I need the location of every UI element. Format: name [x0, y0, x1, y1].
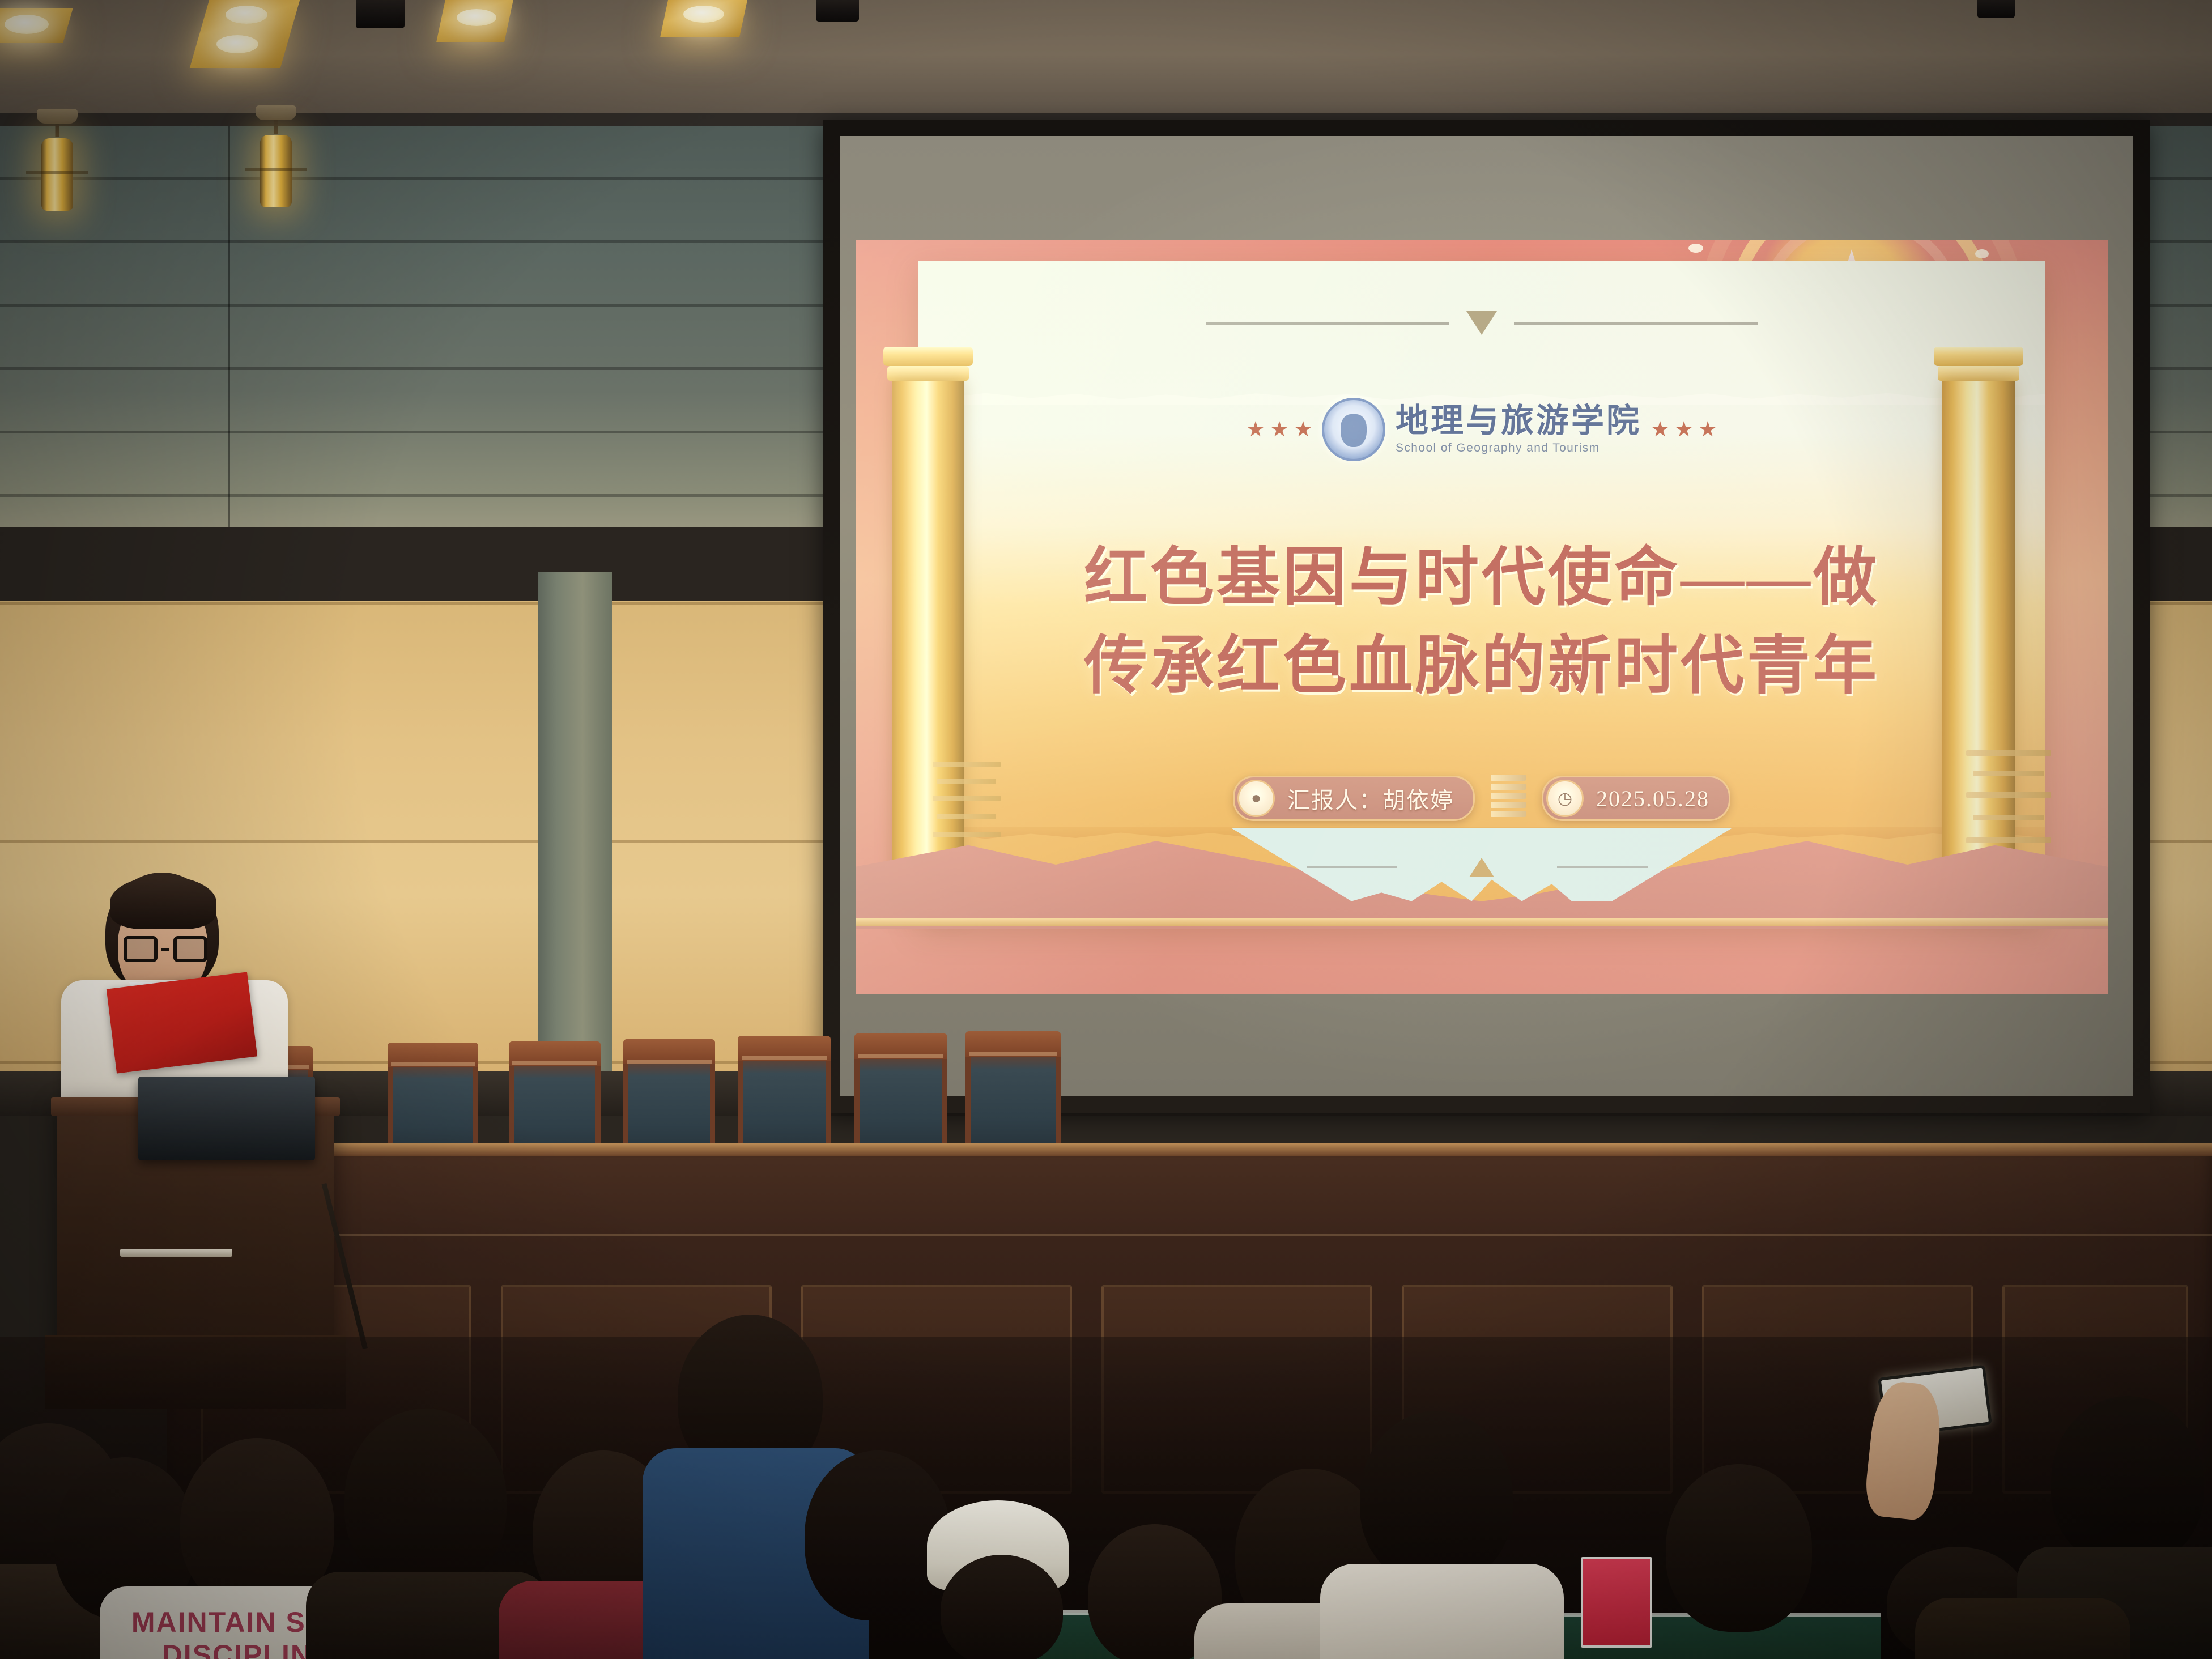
presenter-label: 汇报人：胡依婷 [1287, 782, 1454, 815]
pendant-lamp-2 [245, 109, 307, 216]
deco-line-right [1514, 322, 1758, 325]
speaker-glasses-icon [124, 936, 207, 962]
star-icon [1675, 421, 1692, 438]
school-name-en: School of Geography and Tourism [1396, 441, 1600, 455]
star-icon [1247, 421, 1264, 438]
ceiling [0, 0, 2212, 122]
audience-shoulders [1915, 1598, 2130, 1659]
red-folder [107, 972, 257, 1073]
ceiling-spot-3 [1977, 0, 2015, 18]
audience-head [344, 1409, 507, 1590]
audience-head [1666, 1464, 1812, 1632]
wall-seam-1 [228, 113, 230, 561]
gold-rail [856, 918, 2108, 926]
ceiling-light-2-bulb-top [226, 6, 267, 24]
marker-triangle-icon [1469, 858, 1494, 877]
sky-line-left [1307, 866, 1397, 868]
school-logo-row: 地理与旅游学院 School of Geography and Tourism [856, 395, 2108, 463]
ceiling-light-3-bulb [457, 9, 496, 26]
school-name-block: 地理与旅游学院 School of Geography and Tourism [1396, 405, 1641, 455]
stage-chair-6 [854, 1033, 947, 1162]
pendant-lamp-1 [26, 112, 88, 220]
school-name-cn: 地理与旅游学院 [1396, 405, 1641, 437]
star-icon [1699, 421, 1716, 438]
person-icon: ● [1237, 780, 1275, 817]
school-emblem-icon [1322, 398, 1385, 461]
skyline-decoration [856, 822, 2108, 929]
audience-head [180, 1438, 334, 1610]
ceiling-spot-2 [816, 0, 859, 22]
audience-head [1360, 1411, 1513, 1584]
audience-head [2051, 1396, 2204, 1566]
slide-meta-row: ● 汇报人：胡依婷 ◷ 2025.05.28 [856, 773, 2108, 824]
presenter-badge: ● 汇报人：胡依婷 [1233, 776, 1475, 821]
desk-grain-line-1 [167, 1234, 2212, 1236]
stage-chair-7 [965, 1031, 1061, 1160]
date-label: 2025.05.28 [1596, 785, 1709, 812]
slide-title-line-2: 传承红色血脉的新时代青年 [856, 623, 2108, 709]
star-icon [1271, 421, 1288, 438]
star-icon [1652, 421, 1669, 438]
ceiling-light-4-bulb [683, 6, 724, 23]
podium-nameplate [120, 1249, 232, 1257]
logo-stars-right [1652, 421, 1716, 438]
audience-shoulders [1320, 1564, 1564, 1659]
scroll-top-decoration [856, 310, 2108, 335]
sky-line-right [1557, 866, 1648, 868]
red-sign [1581, 1557, 1652, 1648]
speaker-fringe [110, 876, 216, 929]
slide-title-line-1: 红色基因与时代使命——做 [856, 535, 2108, 621]
laptop[interactable] [138, 1077, 315, 1160]
desk-top-edge [167, 1143, 2212, 1156]
clock-icon: ◷ [1546, 780, 1584, 817]
star-icon [1295, 421, 1312, 438]
deco-triangle-down-icon [1466, 311, 1497, 335]
ceiling-light-2-bulb-bottom [216, 35, 258, 53]
presentation-slide: 地理与旅游学院 School of Geography and Tourism … [856, 240, 2108, 994]
ceiling-light-1-bulb [5, 15, 49, 34]
wall-column [538, 572, 612, 1082]
book-icon [1491, 775, 1526, 822]
logo-stars-left [1247, 421, 1312, 438]
deco-line-left [1206, 322, 1449, 325]
audience-head [941, 1555, 1063, 1659]
ceiling-spot-1 [356, 0, 405, 28]
auditorium-scene: 地理与旅游学院 School of Geography and Tourism … [0, 0, 2212, 1659]
date-badge: ◷ 2025.05.28 [1542, 776, 1730, 821]
